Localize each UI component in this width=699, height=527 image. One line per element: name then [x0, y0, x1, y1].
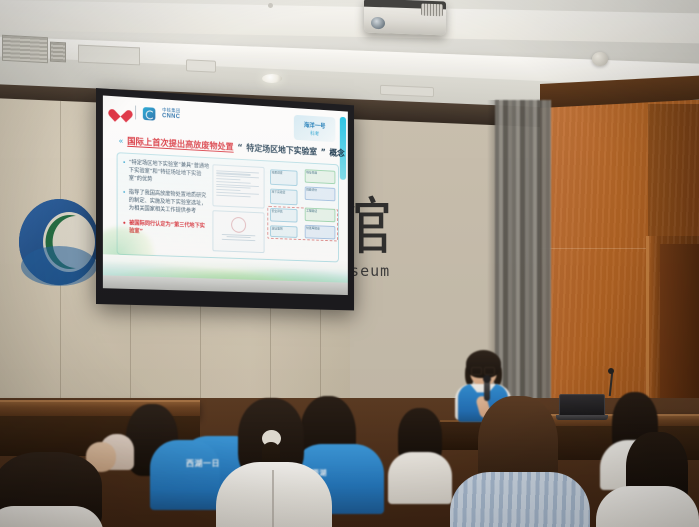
bullet-dot-icon: •	[122, 159, 125, 183]
projector-lens-icon	[371, 17, 385, 29]
ceiling-sensor-icon	[268, 3, 273, 8]
flow-node: 工程验证	[304, 208, 335, 223]
flow-node: 性能评价	[304, 186, 335, 201]
flow-node: 地质调查	[270, 169, 297, 186]
flow-node: 处置库建设	[304, 225, 335, 240]
laptop-base	[556, 415, 608, 420]
logo-divider	[135, 106, 136, 120]
window-curtain	[495, 100, 551, 430]
presentation-room-photo: 馆 Museum 中核集团 CNNC 海洋一号 科考	[0, 0, 699, 527]
title-quote-close: ”	[321, 148, 326, 158]
badge-line-2: 科考	[310, 130, 319, 137]
air-conditioning-vent-small-icon	[50, 42, 66, 63]
bullet-text: 指导了我国高放废物处置地质研究的制定、实施及地下实验室选址，为相关国家相关工作提…	[129, 190, 209, 217]
title-dark-segment: 特定场区地下实验室	[246, 144, 317, 158]
shirt-seam	[272, 470, 274, 527]
title-chevron-left: «	[119, 137, 124, 147]
brand-name-en: CNNC	[162, 113, 180, 120]
projected-slide: 中核集团 CNNC 海洋一号 科考 « 国际上首次提出高放废物处置 “ 特定场区…	[103, 95, 348, 295]
ceiling-vent-slot	[78, 45, 140, 66]
slide-canvas: 中核集团 CNNC 海洋一号 科考 « 国际上首次提出高放废物处置 “ 特定场区…	[103, 95, 348, 295]
document-thumbnail	[213, 164, 264, 208]
vest-text: 西湖一日	[186, 458, 220, 469]
bullet-text: “特定场区地下实验室”兼具“普通地下实验室”和“特征场址地下实验室”的优势	[129, 160, 209, 187]
slide-corner-badge: 海洋一号 科考	[294, 115, 336, 142]
title-tail: 概念	[329, 149, 344, 160]
air-conditioning-vent-icon	[2, 35, 48, 63]
heart-icon	[113, 104, 129, 119]
ceiling-soffit	[0, 0, 699, 43]
glasses-icon	[471, 367, 495, 373]
recessed-downlight-icon	[262, 74, 282, 83]
flow-node: 场址筛选	[304, 169, 335, 184]
ceiling-vent-slot	[186, 59, 216, 72]
slide-logo-row: 中核集团 CNNC	[113, 104, 181, 122]
title-red-segment: 国际上首次提出高放废物处置	[127, 137, 233, 153]
laptop-screen	[559, 394, 605, 416]
document-thumbnail-column	[213, 164, 264, 253]
open-laptop[interactable]	[556, 394, 608, 420]
microphone-head-icon	[483, 375, 491, 383]
badge-line-1: 海洋一号	[304, 120, 326, 130]
certificate-thumbnail	[213, 210, 264, 253]
projection-screen: 中核集团 CNNC 海洋一号 科考 « 国际上首次提出高放废物处置 “ 特定场区…	[96, 88, 354, 310]
cnnc-logo-icon	[143, 107, 156, 121]
ceiling-speaker-icon	[592, 52, 608, 66]
flow-diagram: 地质调查 场址筛选 地下实验室 性能评价 安全评估 工程验证 处置库建设 选址准…	[268, 167, 334, 255]
slide-figure-group: 地质调查 场址筛选 地下实验室 性能评价 安全评估 工程验证 处置库建设 选址准…	[213, 164, 334, 255]
bullet-dot-icon: •	[122, 190, 125, 214]
flow-node: 选址准则	[270, 225, 297, 238]
desk-microphone-head-icon	[608, 368, 614, 374]
title-quote-open: “	[237, 143, 242, 153]
ceiling-projector-icon	[364, 0, 446, 35]
flow-node: 地下实验室	[270, 189, 297, 206]
institution-logo	[16, 196, 102, 288]
projector-vent	[421, 4, 443, 17]
list-item: • 指导了我国高放废物处置地质研究的制定、实施及地下实验室选址，为相关国家相关工…	[122, 190, 209, 217]
list-item: • “特定场区地下实验室”兼具“普通地下实验室”和“特征场址地下实验室”的优势	[122, 159, 209, 187]
seal-icon	[231, 216, 246, 232]
